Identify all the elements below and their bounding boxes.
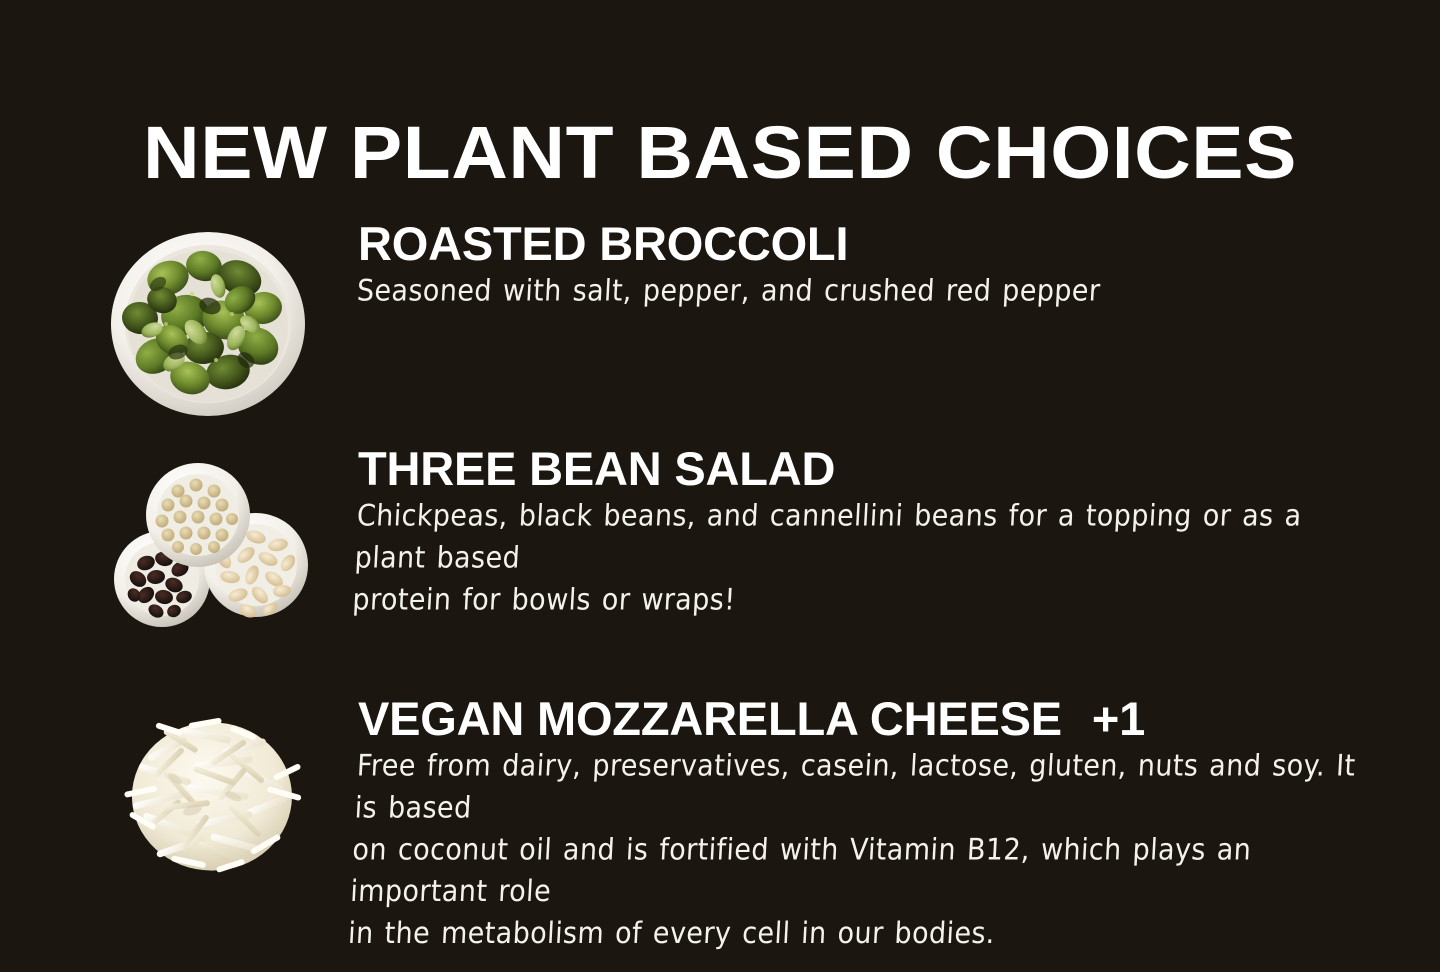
plant-based-choices-poster: NEW PLANT BASED CHOICES <box>0 0 1440 972</box>
item-heading-three-bean-salad: THREE BEAN SALAD <box>358 445 1358 493</box>
three-bean-salad-text-block: THREE BEAN SALAD Chickpeas, black beans,… <box>358 445 1358 610</box>
item-heading-vegan-mozzarella-cheese: VEGAN MOZZARELLA CHEESE+1 <box>358 695 1358 743</box>
menu-item-vegan-mozzarella-cheese: VEGAN MOZZARELLA CHEESE+1 Free from dair… <box>0 695 1440 900</box>
shredded-vegan-mozzarella-photo <box>100 695 320 895</box>
page-title: NEW PLANT BASED CHOICES <box>0 116 1440 190</box>
vegan-mozzarella-text-block: VEGAN MOZZARELLA CHEESE+1 Free from dair… <box>358 695 1358 936</box>
menu-item-three-bean-salad: THREE BEAN SALAD Chickpeas, black beans,… <box>0 445 1440 645</box>
item-description-three-bean-salad: Chickpeas, black beans, and cannellini b… <box>351 496 1358 621</box>
item-description-vegan-mozzarella-cheese: Free from dairy, preservatives, casein, … <box>347 746 1358 955</box>
item-description-roasted-broccoli: Seasoned with salt, pepper, and crushed … <box>356 271 1358 313</box>
item-heading-label: VEGAN MOZZARELLA CHEESE <box>358 692 1062 745</box>
item-badge-plus-one: +1 <box>1092 695 1145 743</box>
menu-item-roasted-broccoli: ROASTED BROCCOLI Seasoned with salt, pep… <box>0 220 1440 420</box>
roasted-broccoli-text-block: ROASTED BROCCOLI Seasoned with salt, pep… <box>358 220 1358 309</box>
three-bean-bowls-photo <box>100 445 320 645</box>
item-heading-roasted-broccoli: ROASTED BROCCOLI <box>358 220 1358 268</box>
roasted-broccoli-plate-photo <box>100 220 320 420</box>
